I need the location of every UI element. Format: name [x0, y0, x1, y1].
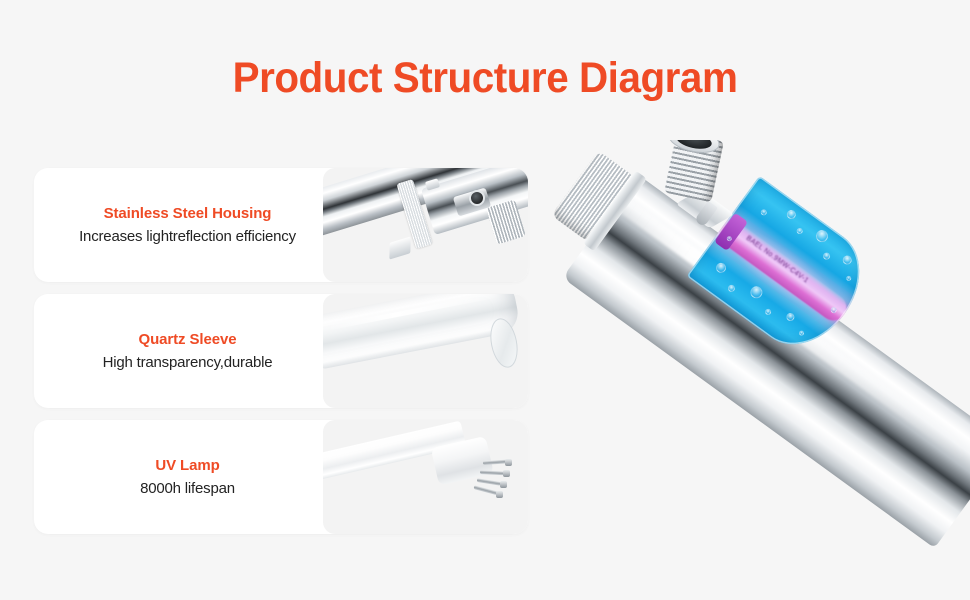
- uv-sterilizer-cutaway-photo: BAEL No.9MW-C4V-1: [548, 140, 970, 600]
- water-bubble: [727, 283, 737, 293]
- uv-lamp-photo: [323, 420, 528, 534]
- water-bubble: [814, 228, 831, 245]
- uv-lamp-pin: [473, 485, 497, 495]
- feature-card-list: Stainless Steel Housing Increases lightr…: [34, 168, 528, 546]
- uv-lamp-pin-tip: [505, 459, 512, 466]
- uv-lamp-illustration: [323, 420, 528, 534]
- feature-card-text: Stainless Steel Housing Increases lightr…: [34, 168, 329, 282]
- quartz-tube-rim: [486, 316, 521, 370]
- feature-description: 8000h lifespan: [140, 480, 235, 497]
- water-bubble: [785, 208, 798, 221]
- feature-card-uv-lamp[interactable]: UV Lamp 8000h lifespan: [34, 420, 528, 534]
- water-bubble: [785, 311, 796, 322]
- product-structure-page: Product Structure Diagram Stainless Stee…: [0, 0, 970, 600]
- quartz-sleeve-photo: [323, 294, 528, 408]
- feature-title: UV Lamp: [155, 457, 219, 474]
- feature-card-text: Quartz Sleeve High transparency,durable: [34, 294, 329, 408]
- feature-title: Stainless Steel Housing: [104, 205, 272, 222]
- feature-description: Increases lightreflection efficiency: [79, 228, 296, 245]
- feature-card-text: UV Lamp 8000h lifespan: [34, 420, 329, 534]
- uv-lamp-pin: [477, 478, 501, 486]
- water-bubble: [748, 284, 765, 301]
- water-bubble: [795, 227, 803, 235]
- housing-mount-tab: [389, 236, 410, 259]
- uv-lamp-pin-tip: [503, 470, 510, 477]
- water-bubble: [841, 254, 854, 267]
- water-bubble: [798, 330, 805, 337]
- housing-port-opening: [469, 190, 485, 206]
- water-bubble: [760, 208, 768, 216]
- feature-card-stainless-steel-housing[interactable]: Stainless Steel Housing Increases lightr…: [34, 168, 528, 282]
- feature-card-quartz-sleeve[interactable]: Quartz Sleeve High transparency,durable: [34, 294, 528, 408]
- water-bubble: [714, 261, 728, 275]
- feature-title: Quartz Sleeve: [139, 331, 237, 348]
- uv-lamp-pin-tip: [500, 481, 507, 488]
- quartz-sleeve-illustration: [323, 294, 528, 408]
- stainless-steel-housing-photo: [323, 168, 528, 282]
- feature-description: High transparency,durable: [103, 354, 273, 371]
- water-bubble: [845, 275, 852, 282]
- uv-lamp-pin-tip: [496, 491, 503, 498]
- housing-illustration: [323, 168, 528, 282]
- water-bubble: [764, 308, 772, 316]
- water-bubble: [822, 251, 832, 261]
- uv-lamp-pin: [483, 459, 507, 465]
- page-title: Product Structure Diagram: [29, 54, 941, 103]
